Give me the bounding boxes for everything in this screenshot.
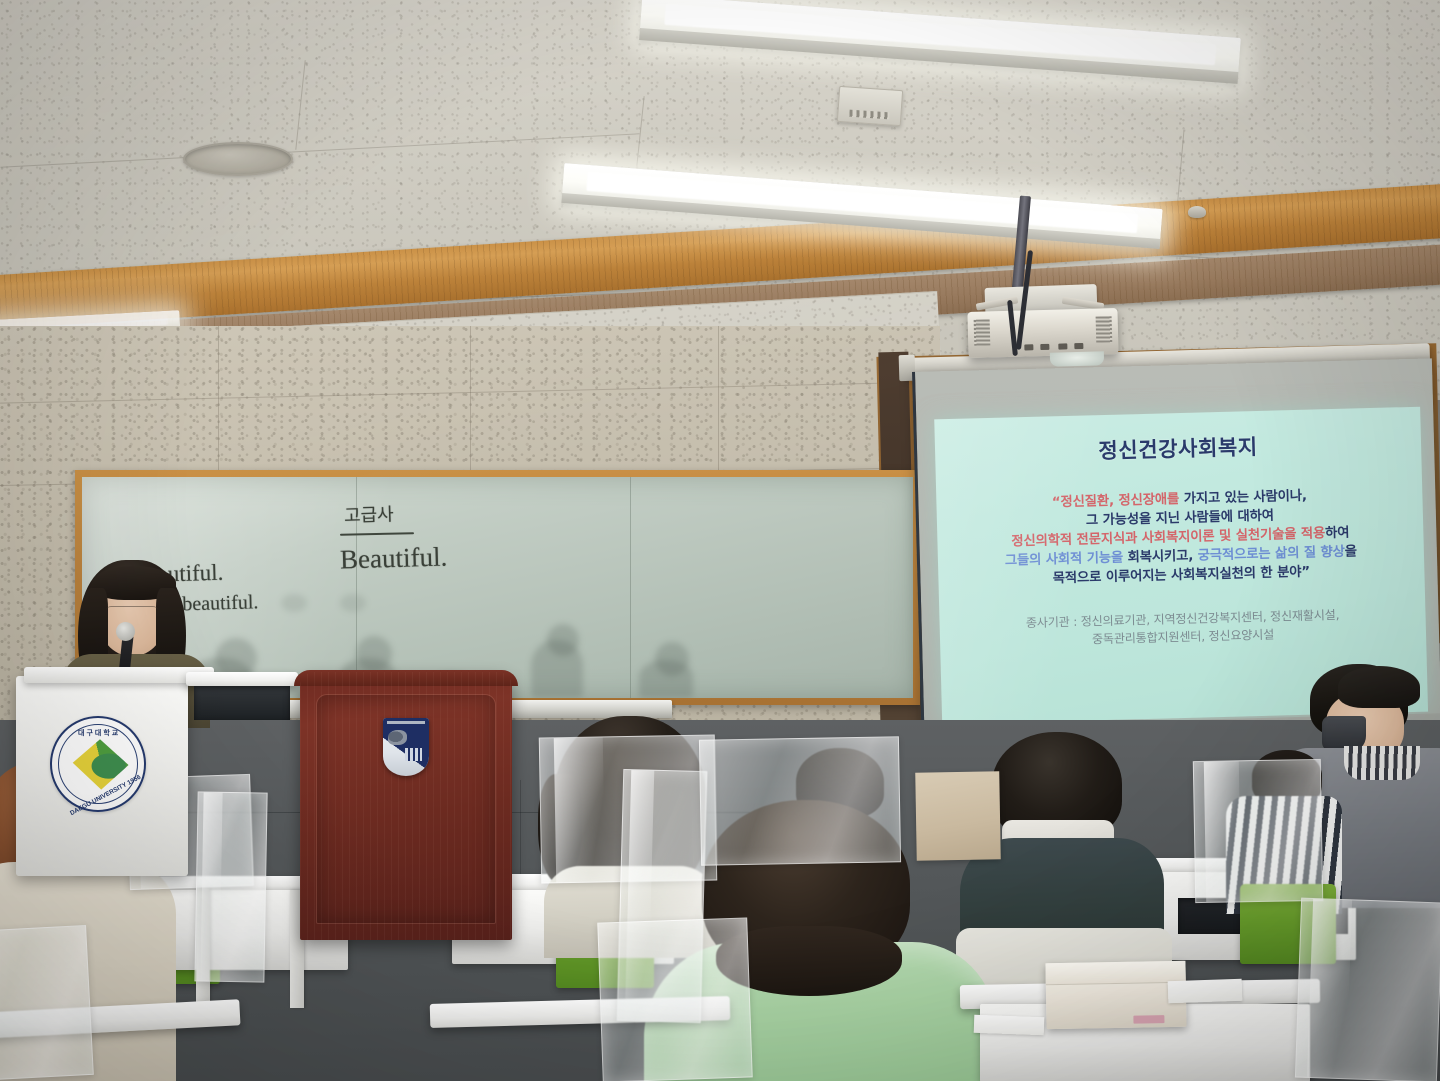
microphone-head (116, 622, 135, 641)
av-shelf-box (194, 686, 290, 720)
whiteboard-heading-right: 고급사 (344, 500, 394, 527)
logo-text-kr: 대구대학교 (78, 728, 120, 738)
av-shelf (186, 672, 298, 686)
slide-title: 정신건강사회복지 (943, 427, 1414, 469)
ceiling-speaker-icon (183, 142, 293, 176)
hair-front (1338, 666, 1420, 708)
lecture-hall-photo: Beautiful. More beautiful. Most 고급사 Beau… (0, 0, 1440, 1081)
acrylic-divider-center-3 (699, 736, 901, 865)
university-logo: DAEGU UNIVERSITY 1956 대구대학교 (50, 716, 146, 812)
sprinkler-head-icon (1188, 206, 1206, 218)
projector-lens-icon (1050, 351, 1104, 366)
paper-bag (915, 771, 1001, 860)
logo-text: DAEGU UNIVERSITY 1956 대구대학교 (52, 718, 144, 810)
paper-sheet-left (974, 1015, 1045, 1035)
acrylic-divider-right-1 (1193, 759, 1323, 903)
acrylic-divider-right-2 (1295, 898, 1440, 1081)
lectern: DAEGU UNIVERSITY 1956 대구대학교 (16, 676, 188, 876)
wooden-podium (300, 672, 512, 940)
ceiling-projector (967, 308, 1118, 358)
whiteboard-word-right: Beautiful. (340, 542, 448, 576)
cardboard-box (1045, 961, 1186, 1029)
university-crest-icon (383, 718, 429, 776)
slide-quote: “정신질환, 정신장애를 가지고 있는 사람이나, 그 가능성을 지닌 사람들에… (944, 485, 1416, 592)
glasses-icon (106, 606, 158, 616)
ceiling-vent-box (837, 86, 903, 126)
acrylic-divider-front-left (0, 925, 94, 1081)
acrylic-divider-left-2 (194, 791, 267, 982)
slide-footer: 종사기관 : 정신의료기관, 지역정신건강복지센터, 정신재활시설, 중독관리통… (947, 605, 1418, 652)
acrylic-divider-front-center (597, 917, 752, 1081)
paper-sheet-right (1168, 979, 1243, 1004)
collar (1344, 746, 1420, 780)
logo-text-en: DAEGU UNIVERSITY 1956 (69, 774, 142, 817)
